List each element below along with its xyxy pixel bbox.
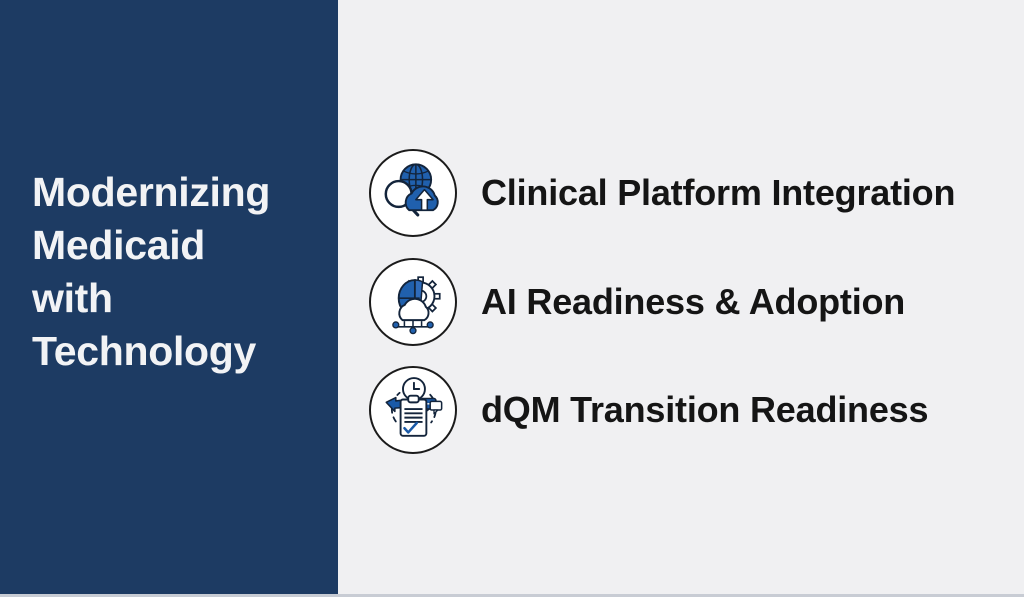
feature-label-ai-readiness-adoption: AI Readiness & Adoption — [481, 282, 905, 322]
title-line-1: Modernizing — [32, 166, 317, 219]
feature-item-clinical-platform-integration[interactable]: Clinical Platform Integration — [369, 147, 955, 239]
feature-item-dqm-transition-readiness[interactable]: dQM Transition Readiness — [369, 364, 928, 456]
globe-cloud-upload-magnifier-icon — [369, 149, 457, 237]
feature-item-ai-readiness-adoption[interactable]: AI Readiness & Adoption — [369, 256, 905, 348]
feature-list-panel: Clinical Platform Integration — [338, 0, 1024, 597]
feature-label-clinical-platform-integration: Clinical Platform Integration — [481, 173, 955, 213]
brain-gear-cloud-network-icon — [369, 258, 457, 346]
left-title-panel: Modernizing Medicaid with Technology — [0, 0, 338, 597]
title-line-4: Technology — [32, 325, 317, 378]
title-line-3: with — [32, 272, 317, 325]
page-title: Modernizing Medicaid with Technology — [32, 166, 317, 378]
feature-label-dqm-transition-readiness: dQM Transition Readiness — [481, 390, 928, 430]
slide-canvas: Modernizing Medicaid with Technology — [0, 0, 1024, 597]
clipboard-clock-checklist-icon — [369, 366, 457, 454]
title-line-2: Medicaid — [32, 219, 317, 272]
